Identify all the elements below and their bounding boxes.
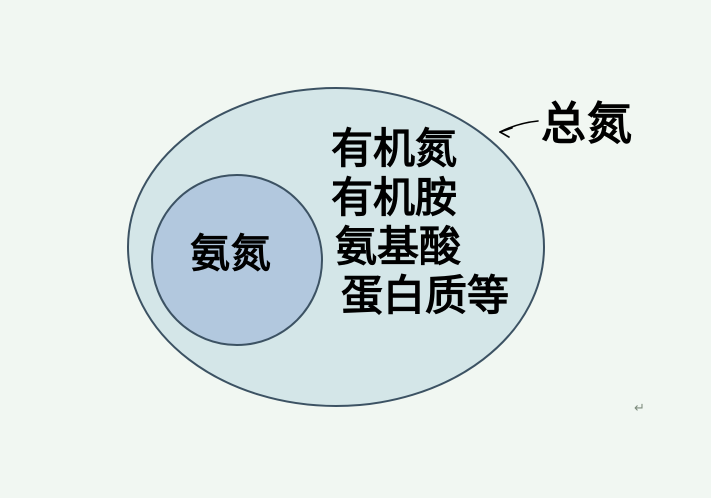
list-item: 有机胺	[331, 175, 541, 224]
paragraph-mark-icon: ↵	[634, 400, 645, 416]
list-item: 蛋白质等	[341, 273, 541, 322]
total-nitrogen-callout-label: 总氮	[541, 98, 633, 150]
organic-nitrogen-contents-list: 有机氮 有机胺 氨基酸 蛋白质等	[331, 126, 541, 322]
list-item: 氨基酸	[335, 224, 541, 273]
ammonia-nitrogen-label: 氨氮	[190, 231, 272, 277]
list-item: 有机氮	[331, 126, 541, 175]
diagram-canvas: 氨氮 有机氮 有机胺 氨基酸 蛋白质等 总氮 ↵	[0, 0, 711, 498]
